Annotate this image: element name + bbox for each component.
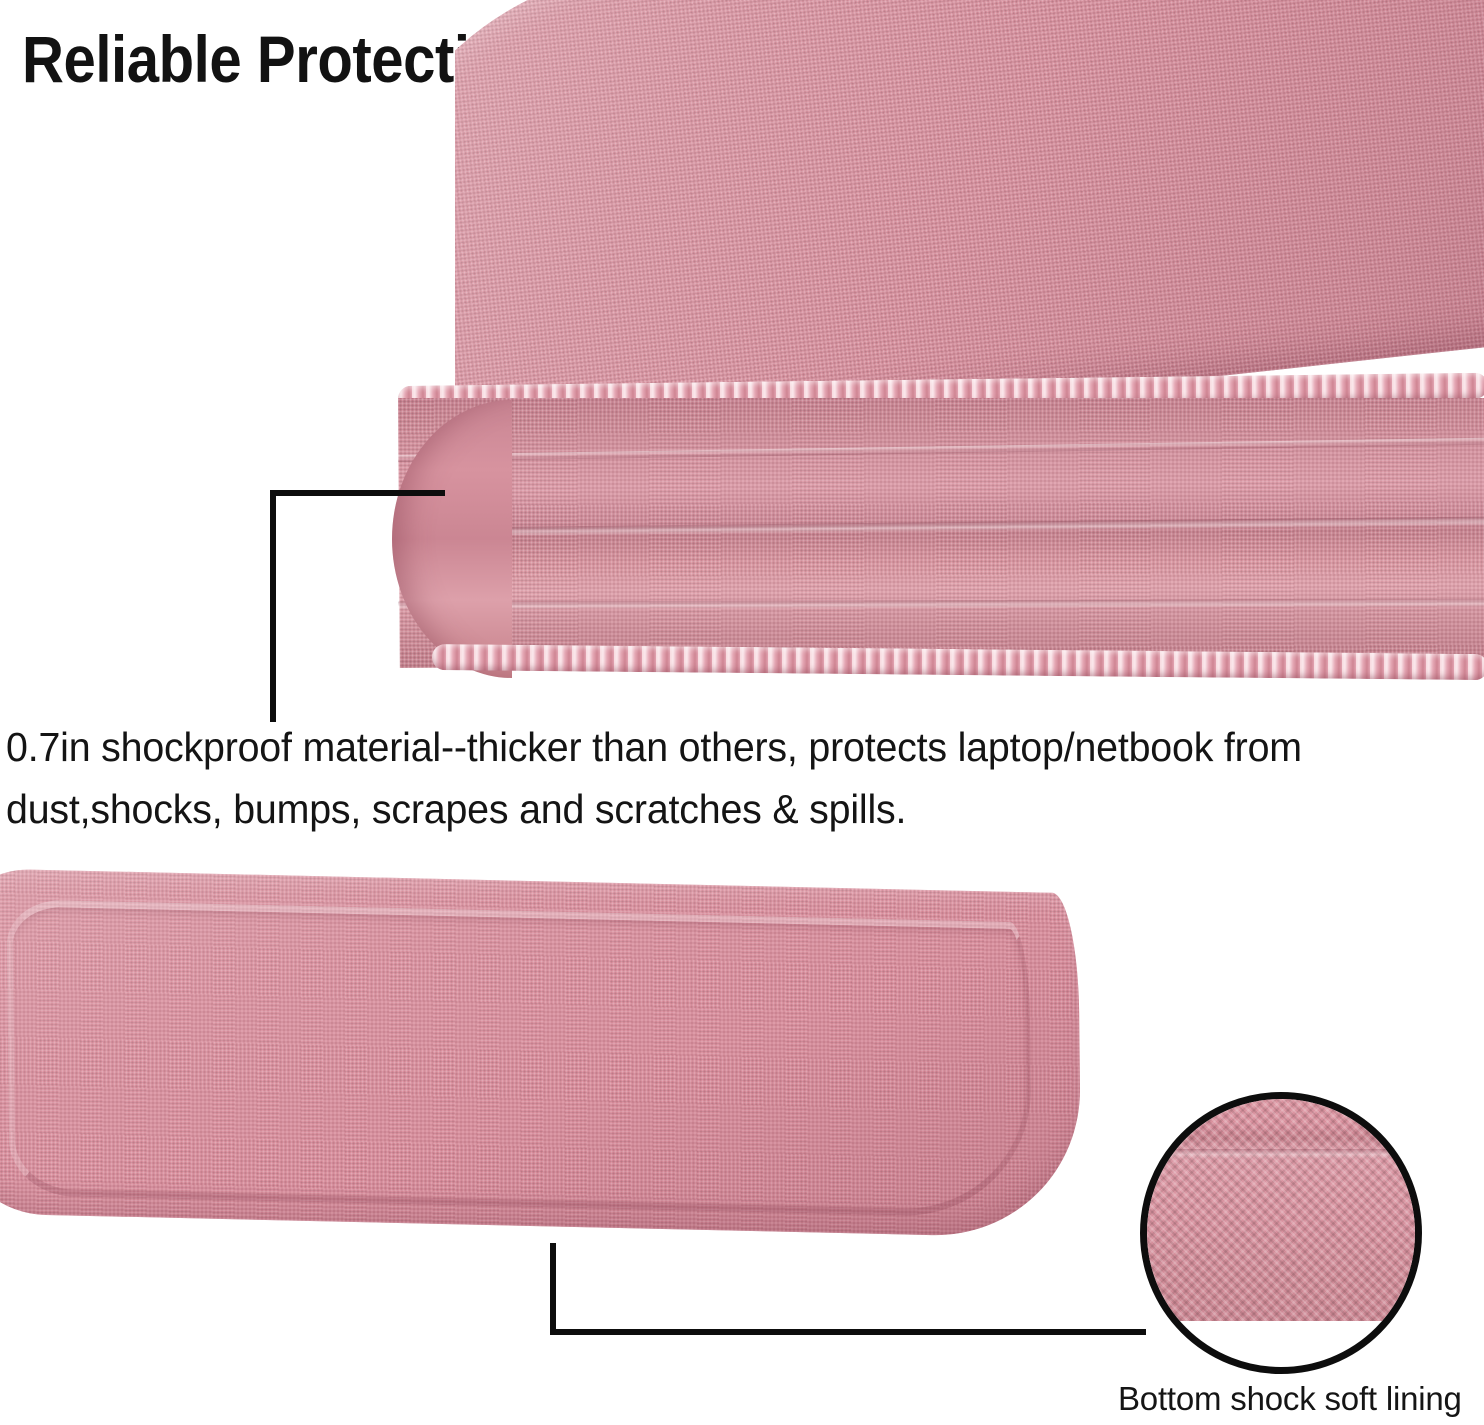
feature-description-line-2: dust,shocks, bumps, scrapes and scratche… (6, 778, 1425, 840)
feature-description: 0.7in shockproof material--thicker than … (6, 716, 1425, 841)
lining-seam-line (1141, 1149, 1422, 1158)
padded-wall-texture (398, 398, 1484, 668)
feature-description-line-1: 0.7in shockproof material--thicker than … (6, 716, 1425, 778)
laptop-sleeve-bottom-panel (0, 868, 1120, 1298)
laptop-sleeve-top-flap (455, 0, 1484, 420)
product-feature-image: Reliable Protection 0.7in shockproof mat… (0, 0, 1484, 1425)
flap-fabric-panel (455, 0, 1484, 420)
lining-fabric-closeup (1141, 1093, 1422, 1321)
callout-line-bottom-horizontal (550, 1329, 1146, 1335)
bottom-panel-fabric (0, 868, 1082, 1238)
sleeve-left-end-cap (392, 400, 512, 678)
callout-line-top-vertical (270, 490, 276, 722)
callout-line-bottom-vertical (550, 1243, 556, 1335)
bottom-panel-sheen (0, 868, 1082, 1238)
shockproof-padded-wall (398, 398, 1484, 680)
padded-wall-fabric (398, 398, 1484, 668)
flap-highlight-sheen (455, 0, 1484, 420)
lining-detail-inset (1140, 1092, 1422, 1374)
callout-line-top-horizontal (270, 490, 445, 496)
end-cap-fabric (392, 400, 512, 678)
lining-detail-caption: Bottom shock soft lining (1118, 1380, 1462, 1418)
lining-knit-texture (1141, 1093, 1422, 1321)
